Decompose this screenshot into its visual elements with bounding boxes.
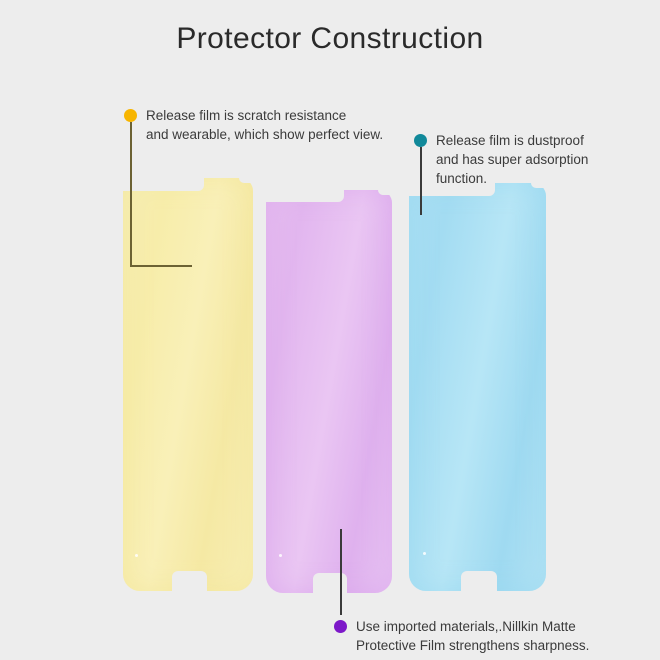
leader-line-teal: [420, 147, 422, 215]
bullet-dot-icon-yellow: [124, 109, 137, 122]
film-pink-speaker-notch: [266, 190, 344, 202]
film-layer-pink: [266, 190, 392, 593]
film-pink-body: [266, 190, 392, 593]
film-pink-top-right-trim: [378, 190, 392, 195]
film-yellow-home-cutout: [172, 571, 207, 591]
annotation-purple-text: Use imported materials,.Nillkin Matte Pr…: [356, 617, 589, 655]
film-pink-sensor-dot: [279, 554, 282, 557]
film-blue-home-cutout: [461, 571, 497, 591]
annotation-yellow-line-1: Release film is scratch resistance: [146, 106, 383, 125]
film-blue-sensor-dot: [423, 552, 426, 555]
film-layer-blue: [409, 183, 546, 591]
leader-line-purple-vertical: [340, 529, 342, 615]
annotation-yellow-line-2: and wearable, which show perfect view.: [146, 125, 383, 144]
annotation-teal-text: Release film is dustproof and has super …: [436, 131, 588, 188]
leader-line-purple: [340, 529, 342, 615]
annotation-yellow-text: Release film is scratch resistance and w…: [146, 106, 383, 144]
film-blue-body: [409, 183, 546, 591]
annotation-purple-line-1: Use imported materials,.Nillkin Matte: [356, 617, 589, 636]
page-title: Protector Construction: [0, 22, 660, 56]
annotation-purple-line-2: Protective Film strengthens sharpness.: [356, 636, 589, 655]
annotation-teal-line-2: and has super adsorption: [436, 150, 588, 169]
leader-line-yellow-vertical: [130, 122, 132, 267]
leader-line-yellow-horizontal: [130, 265, 192, 267]
annotation-teal-line-3: function.: [436, 169, 588, 188]
bullet-dot-icon-teal: [414, 134, 427, 147]
bullet-dot-icon-purple: [334, 620, 347, 633]
leader-line-teal-vertical: [420, 147, 422, 215]
film-yellow-sensor-dot: [135, 554, 138, 557]
film-yellow-top-right-trim: [239, 178, 253, 183]
annotation-teal-line-1: Release film is dustproof: [436, 131, 588, 150]
protector-construction-diagram: Protector Construction Release fil: [0, 0, 660, 660]
